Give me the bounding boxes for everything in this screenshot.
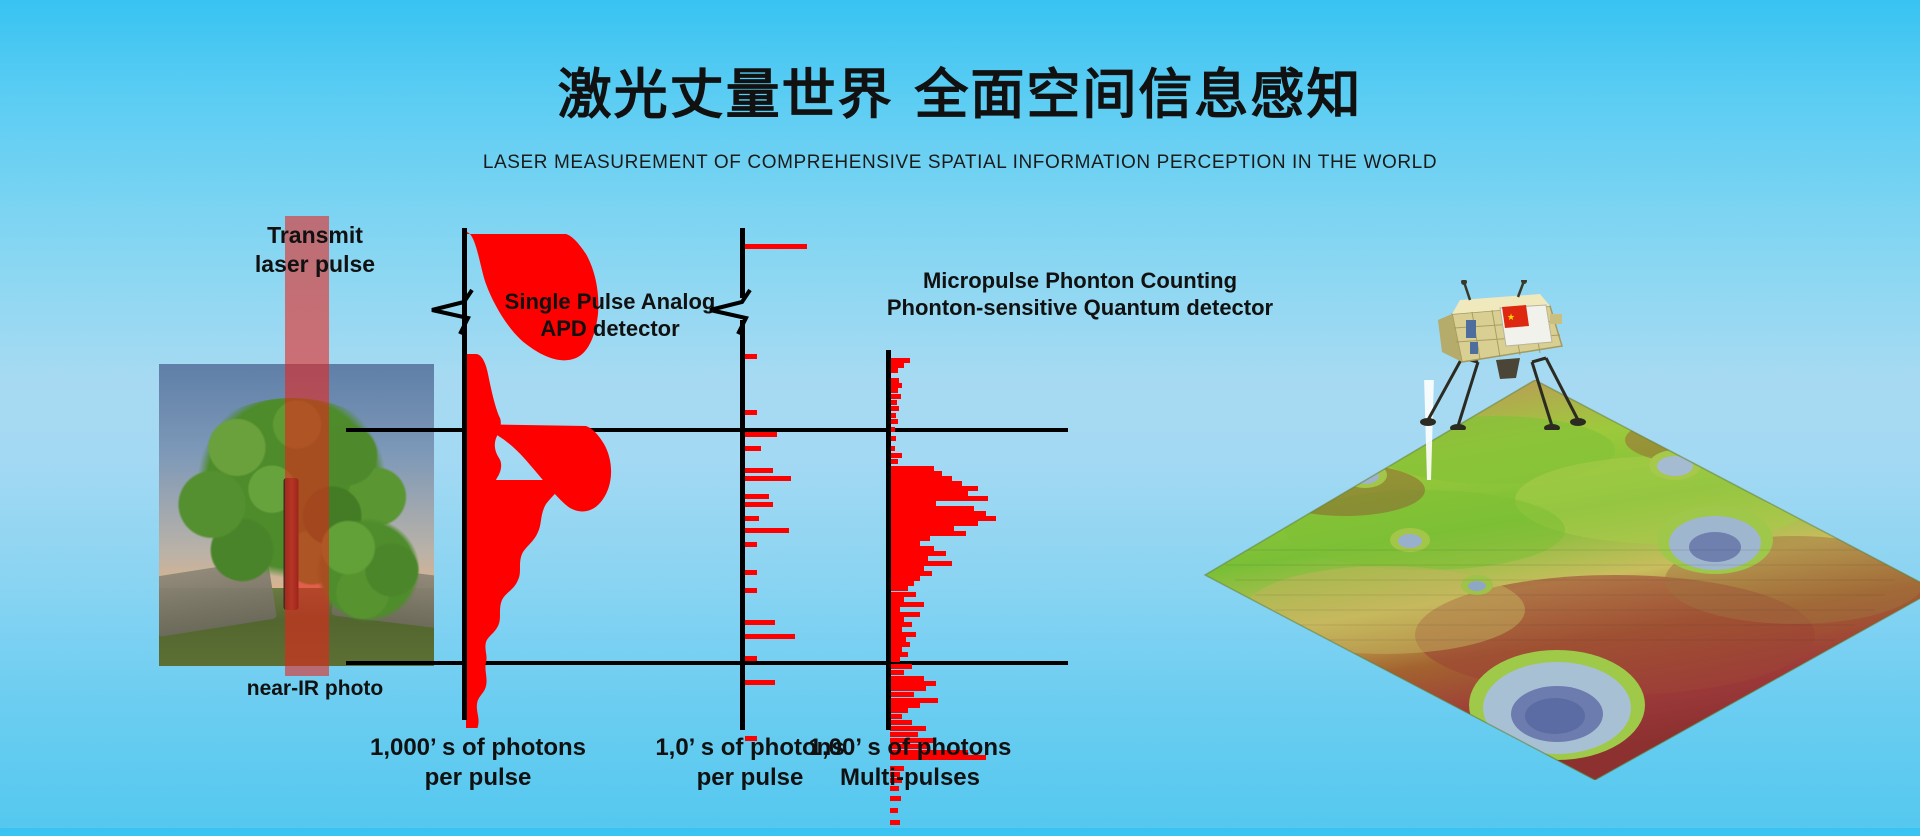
photon-return-bar <box>745 620 775 625</box>
antenna-tip <box>1461 280 1467 285</box>
photon-return-bar <box>890 368 898 373</box>
photo-caption: near-IR photo <box>205 676 425 702</box>
crater <box>1649 450 1701 480</box>
photon-return-bar <box>890 686 926 691</box>
analog-waveform-ground <box>466 662 487 728</box>
photon-return-bar <box>890 394 901 399</box>
photon-return-bar <box>890 726 926 731</box>
photon-return-bar <box>890 664 912 669</box>
terrain-features <box>1215 414 1920 760</box>
crater <box>1461 575 1493 595</box>
photon-return-bar <box>890 400 897 405</box>
terrain-svg <box>1195 380 1920 780</box>
photon-return-bar <box>745 494 769 499</box>
photon-return-bar <box>745 446 761 451</box>
lander-svg: ★ <box>1400 280 1620 430</box>
lander-foot <box>1450 424 1466 430</box>
svg-text:★: ★ <box>1507 313 1515 323</box>
terrain-3d-model <box>1195 380 1920 780</box>
panel1-footer-label: 1,000’ s of photons per pulse <box>348 733 608 793</box>
photon-return-bar <box>745 542 757 547</box>
photon-return-bar <box>890 586 908 591</box>
photon-return-bar <box>890 692 914 697</box>
photon-return-bar <box>890 808 898 813</box>
lander-engine-nozzle <box>1496 358 1520 379</box>
photon-return-bar <box>890 820 900 825</box>
panel3-axis <box>886 350 891 730</box>
photon-return-bar <box>890 714 902 719</box>
photon-return-bar <box>745 244 807 249</box>
crater <box>1759 468 1831 512</box>
photon-return-bar <box>745 502 773 507</box>
crater <box>1343 462 1387 488</box>
photon-return-bar <box>890 670 904 675</box>
analog-waveform-tail <box>466 480 566 662</box>
photon-return-bar <box>745 634 795 639</box>
transmit-laser-pulse-label: Transmit laser pulse <box>220 221 410 278</box>
panel3-footer-label: 1,00’ s of photons Multi-pulses <box>760 733 1060 793</box>
photon-return-bar <box>890 419 898 424</box>
photon-return-bar <box>745 468 773 473</box>
poster-canvas: 激光丈量世界 全面空间信息感知 LASER MEASUREMENT OF COM… <box>0 0 1920 828</box>
photon-return-bar <box>745 680 775 685</box>
lander-foot <box>1544 424 1560 430</box>
photon-return-bar <box>745 432 777 437</box>
photon-return-bar <box>745 570 757 575</box>
photon-return-bar <box>890 459 898 464</box>
photon-return-bar <box>890 796 901 801</box>
laser-beam-column <box>285 216 329 676</box>
photon-return-bar <box>890 406 899 411</box>
lander-foot <box>1570 418 1586 426</box>
photon-return-bar <box>745 476 791 481</box>
lander-module <box>1550 314 1562 324</box>
panel1-axis-lower <box>462 320 467 720</box>
photon-return-bar <box>890 657 900 662</box>
page-subtitle: LASER MEASUREMENT OF COMPREHENSIVE SPATI… <box>0 152 1920 174</box>
lander-foot <box>1420 418 1436 426</box>
photon-return-bar <box>745 588 757 593</box>
crater <box>1390 528 1430 552</box>
panel3-detector-label: Micropulse Phonton Counting Phonton-sens… <box>760 267 1400 322</box>
photon-return-bar <box>890 720 912 725</box>
photon-return-bar <box>890 453 902 458</box>
photon-return-bar <box>890 708 908 713</box>
photon-return-bar <box>890 388 898 393</box>
photon-return-bar <box>745 528 789 533</box>
crater <box>1657 506 1773 574</box>
crater-main <box>1469 650 1645 760</box>
photon-return-bar <box>745 656 757 661</box>
lander-group: ★ <box>1400 280 1620 430</box>
photon-return-bar <box>745 354 757 359</box>
lander-thruster <box>1470 342 1478 354</box>
photon-return-bar <box>745 516 759 521</box>
photon-return-bar <box>745 410 757 415</box>
lander-thruster <box>1466 320 1476 338</box>
panel2-axis-lower <box>740 320 745 730</box>
page-title: 激光丈量世界 全面空间信息感知 <box>0 50 1920 129</box>
chinese-flag: ★ <box>1502 305 1529 328</box>
